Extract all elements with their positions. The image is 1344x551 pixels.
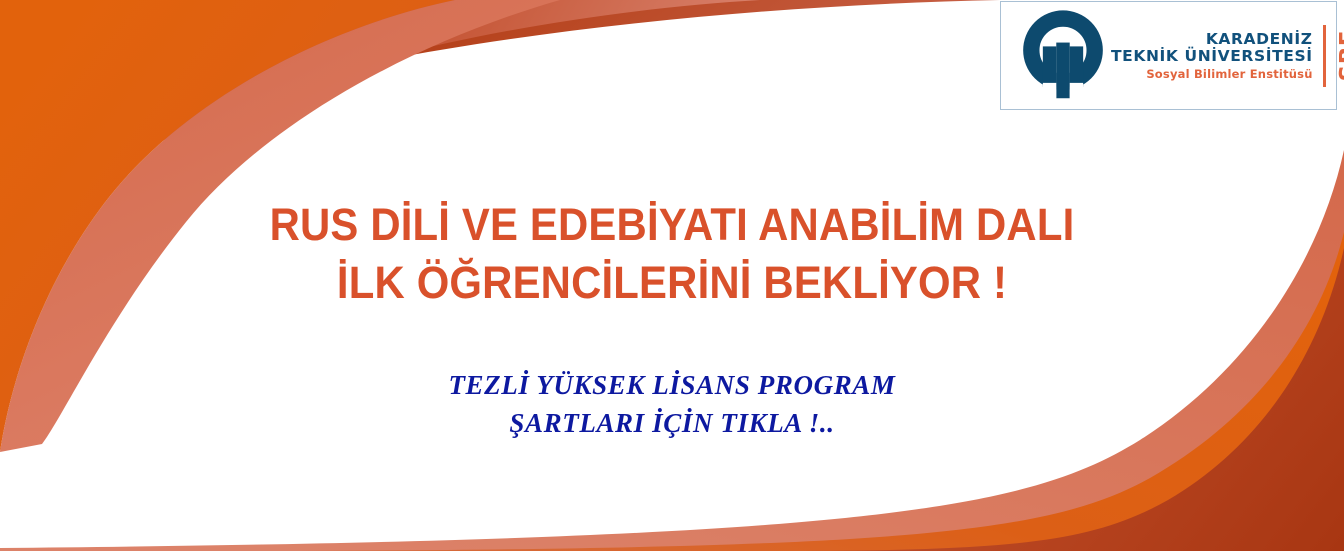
headline-line-2: İLK ÖĞRENCİLERİNİ BEKLİYOR !	[47, 254, 1297, 312]
subtitle-line-1: TEZLİ YÜKSEK LİSANS PROGRAM	[0, 366, 1344, 404]
headline: RUS DİLİ VE EDEBİYATI ANABİLİM DALI İLK …	[47, 196, 1297, 311]
logo-divider	[1323, 25, 1326, 87]
logo-line-teknik-universitesi: TEKNİK ÜNİVERSİTESİ	[1111, 48, 1313, 65]
headline-line-1: RUS DİLİ VE EDEBİYATI ANABİLİM DALI	[47, 196, 1297, 254]
logo-line-karadeniz: KARADENİZ	[1111, 31, 1313, 48]
logo-text-block: KARADENİZ TEKNİK ÜNİVERSİTESİ Sosyal Bil…	[1111, 2, 1344, 109]
subtitle-line-2: ŞARTLARI İÇİN TIKLA !..	[0, 404, 1344, 442]
logo-wordmark: KARADENİZ TEKNİK ÜNİVERSİTESİ Sosyal Bil…	[1111, 31, 1321, 80]
promo-banner: KARADENİZ TEKNİK ÜNİVERSİTESİ Sosyal Bil…	[0, 0, 1344, 551]
program-requirements-link[interactable]: TEZLİ YÜKSEK LİSANS PROGRAM ŞARTLARI İÇİ…	[0, 366, 1344, 443]
logo-abbreviation-sbe: SBE	[1338, 30, 1344, 81]
logo-line-sosyal-bilimler-enstitusu: Sosyal Bilimler Enstitüsü	[1111, 68, 1313, 80]
ktu-sbe-logo-card[interactable]: KARADENİZ TEKNİK ÜNİVERSİTESİ Sosyal Bil…	[1000, 1, 1337, 110]
ktu-circle-emblem-icon	[1015, 8, 1111, 104]
